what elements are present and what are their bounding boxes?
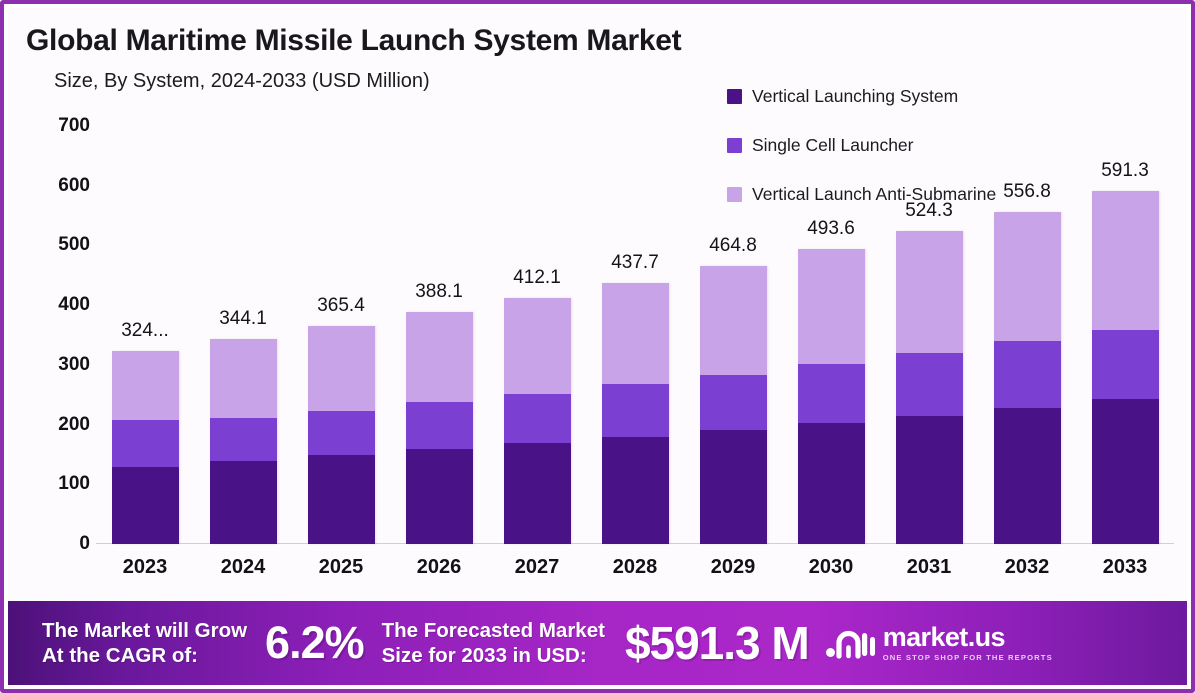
legend-item[interactable]: Vertical Launching System <box>727 72 1127 121</box>
x-axis-tick-label: 2031 <box>907 556 952 579</box>
bar-group[interactable]: 412.1 <box>504 298 571 544</box>
y-axis-tick-label: 400 <box>58 294 90 316</box>
x-axis-tick-label: 2026 <box>417 556 462 579</box>
bar-segment[interactable] <box>406 402 473 449</box>
bar-segment[interactable] <box>798 364 865 423</box>
y-axis: 0100200300400500600700 <box>26 126 90 544</box>
x-axis-tick-label: 2028 <box>613 556 658 579</box>
y-axis-tick-label: 300 <box>58 354 90 376</box>
logo-text: market.us ONE STOP SHOP FOR THE REPORTS <box>883 624 1053 662</box>
x-axis-tick-label: 2032 <box>1005 556 1050 579</box>
bar-segment[interactable] <box>602 437 669 544</box>
summary-banner: The Market will Grow At the CAGR of: 6.2… <box>8 601 1187 685</box>
y-axis-tick-label: 700 <box>58 115 90 137</box>
bar-segment[interactable] <box>406 449 473 544</box>
bar-group[interactable]: 437.7 <box>602 283 669 544</box>
bar-stack[interactable] <box>1092 191 1159 544</box>
bar-segment[interactable] <box>1092 330 1159 400</box>
legend-swatch-vertical-launching-system <box>727 89 742 104</box>
bar-segment[interactable] <box>308 326 375 412</box>
bar-stack[interactable] <box>896 231 963 544</box>
bar-segment[interactable] <box>1092 399 1159 544</box>
bar-segment[interactable] <box>896 416 963 545</box>
bar-stack[interactable] <box>504 298 571 544</box>
bar-group[interactable]: 324... <box>112 351 179 544</box>
logo-wordmark: market.us <box>883 624 1053 651</box>
bar-segment[interactable] <box>210 461 277 544</box>
y-axis-tick-label: 500 <box>58 234 90 256</box>
bar-group[interactable]: 464.8 <box>700 266 767 544</box>
bar-group[interactable]: 365.4 <box>308 326 375 544</box>
x-axis-tick-label: 2030 <box>809 556 854 579</box>
bar-group[interactable]: 591.3 <box>1092 191 1159 544</box>
bar-stack[interactable] <box>994 212 1061 544</box>
bar-segment[interactable] <box>504 394 571 443</box>
forecast-value: $591.3 M <box>625 616 809 670</box>
bar-total-label: 556.8 <box>1003 181 1051 203</box>
bar-segment[interactable] <box>112 351 179 420</box>
bar-segment[interactable] <box>896 231 963 353</box>
x-axis-tick-label: 2027 <box>515 556 560 579</box>
y-axis-tick-label: 200 <box>58 414 90 436</box>
bar-group[interactable]: 524.3 <box>896 231 963 544</box>
bar-segment[interactable] <box>994 341 1061 408</box>
bar-stack[interactable] <box>112 351 179 544</box>
bar-total-label: 493.6 <box>807 218 855 240</box>
bar-segment[interactable] <box>700 430 767 544</box>
forecast-caption: The Forecasted Market Size for 2033 in U… <box>382 618 605 668</box>
bar-segment[interactable] <box>112 420 179 467</box>
cagr-caption-line1: The Market will Grow <box>42 618 247 643</box>
bar-segment[interactable] <box>504 298 571 394</box>
bar-total-label: 524.3 <box>905 200 953 222</box>
bar-group[interactable]: 556.8 <box>994 212 1061 544</box>
bar-stack[interactable] <box>210 339 277 544</box>
y-axis-tick-label: 600 <box>58 175 90 197</box>
bar-stack[interactable] <box>798 249 865 544</box>
x-axis-tick-label: 2023 <box>123 556 168 579</box>
bar-segment[interactable] <box>112 467 179 545</box>
bar-total-label: 388.1 <box>415 281 463 303</box>
legend-item-label: Vertical Launching System <box>752 86 958 107</box>
plot-area: 324...344.1365.4388.1412.1437.7464.8493.… <box>96 126 1174 544</box>
bar-total-label: 344.1 <box>219 308 267 330</box>
bar-segment[interactable] <box>602 384 669 437</box>
bar-segment[interactable] <box>210 339 277 419</box>
bar-segment[interactable] <box>700 375 767 430</box>
bar-stack[interactable] <box>700 266 767 544</box>
forecast-caption-line1: The Forecasted Market <box>382 618 605 643</box>
bar-segment[interactable] <box>406 312 473 402</box>
bar-segment[interactable] <box>994 408 1061 544</box>
bar-group[interactable]: 388.1 <box>406 312 473 544</box>
logo-tagline: ONE STOP SHOP FOR THE REPORTS <box>883 654 1053 662</box>
x-axis-tick-label: 2033 <box>1103 556 1148 579</box>
cagr-caption: The Market will Grow At the CAGR of: <box>42 618 247 668</box>
bar-segment[interactable] <box>798 423 865 544</box>
chart-frame: Global Maritime Missile Launch System Ma… <box>0 0 1195 693</box>
y-axis-tick-label: 0 <box>79 533 90 555</box>
y-axis-tick-label: 100 <box>58 473 90 495</box>
bar-stack[interactable] <box>308 326 375 544</box>
bar-segment[interactable] <box>308 455 375 544</box>
bar-segment[interactable] <box>308 411 375 455</box>
market-us-logo-icon <box>823 623 875 663</box>
bar-segment[interactable] <box>994 212 1061 342</box>
x-axis-tick-label: 2025 <box>319 556 364 579</box>
bar-total-label: 464.8 <box>709 235 757 257</box>
market-us-logo[interactable]: market.us ONE STOP SHOP FOR THE REPORTS <box>823 623 1053 663</box>
bar-total-label: 412.1 <box>513 267 561 289</box>
bar-stack[interactable] <box>602 283 669 544</box>
bar-group[interactable]: 493.6 <box>798 249 865 544</box>
bar-total-label: 324... <box>121 320 169 342</box>
bar-total-label: 437.7 <box>611 252 659 274</box>
forecast-caption-line2: Size for 2033 in USD: <box>382 643 605 668</box>
bar-segment[interactable] <box>1092 191 1159 330</box>
x-axis-tick-label: 2024 <box>221 556 266 579</box>
page-title: Global Maritime Missile Launch System Ma… <box>26 24 926 57</box>
bar-total-label: 365.4 <box>317 295 365 317</box>
bar-segment[interactable] <box>602 283 669 384</box>
bar-stack[interactable] <box>406 312 473 544</box>
chart-canvas: Global Maritime Missile Launch System Ma… <box>8 8 1187 689</box>
bar-total-label: 591.3 <box>1101 160 1149 182</box>
bar-segment[interactable] <box>896 353 963 415</box>
cagr-caption-line2: At the CAGR of: <box>42 643 247 668</box>
bar-group[interactable]: 344.1 <box>210 339 277 544</box>
cagr-value: 6.2% <box>265 617 364 669</box>
bar-segment[interactable] <box>504 443 571 544</box>
x-axis-tick-label: 2029 <box>711 556 756 579</box>
bar-segment[interactable] <box>210 418 277 460</box>
bar-segment[interactable] <box>700 266 767 374</box>
bar-segment[interactable] <box>798 249 865 364</box>
x-axis: 2023202420252026202720282029203020312032… <box>96 556 1174 590</box>
